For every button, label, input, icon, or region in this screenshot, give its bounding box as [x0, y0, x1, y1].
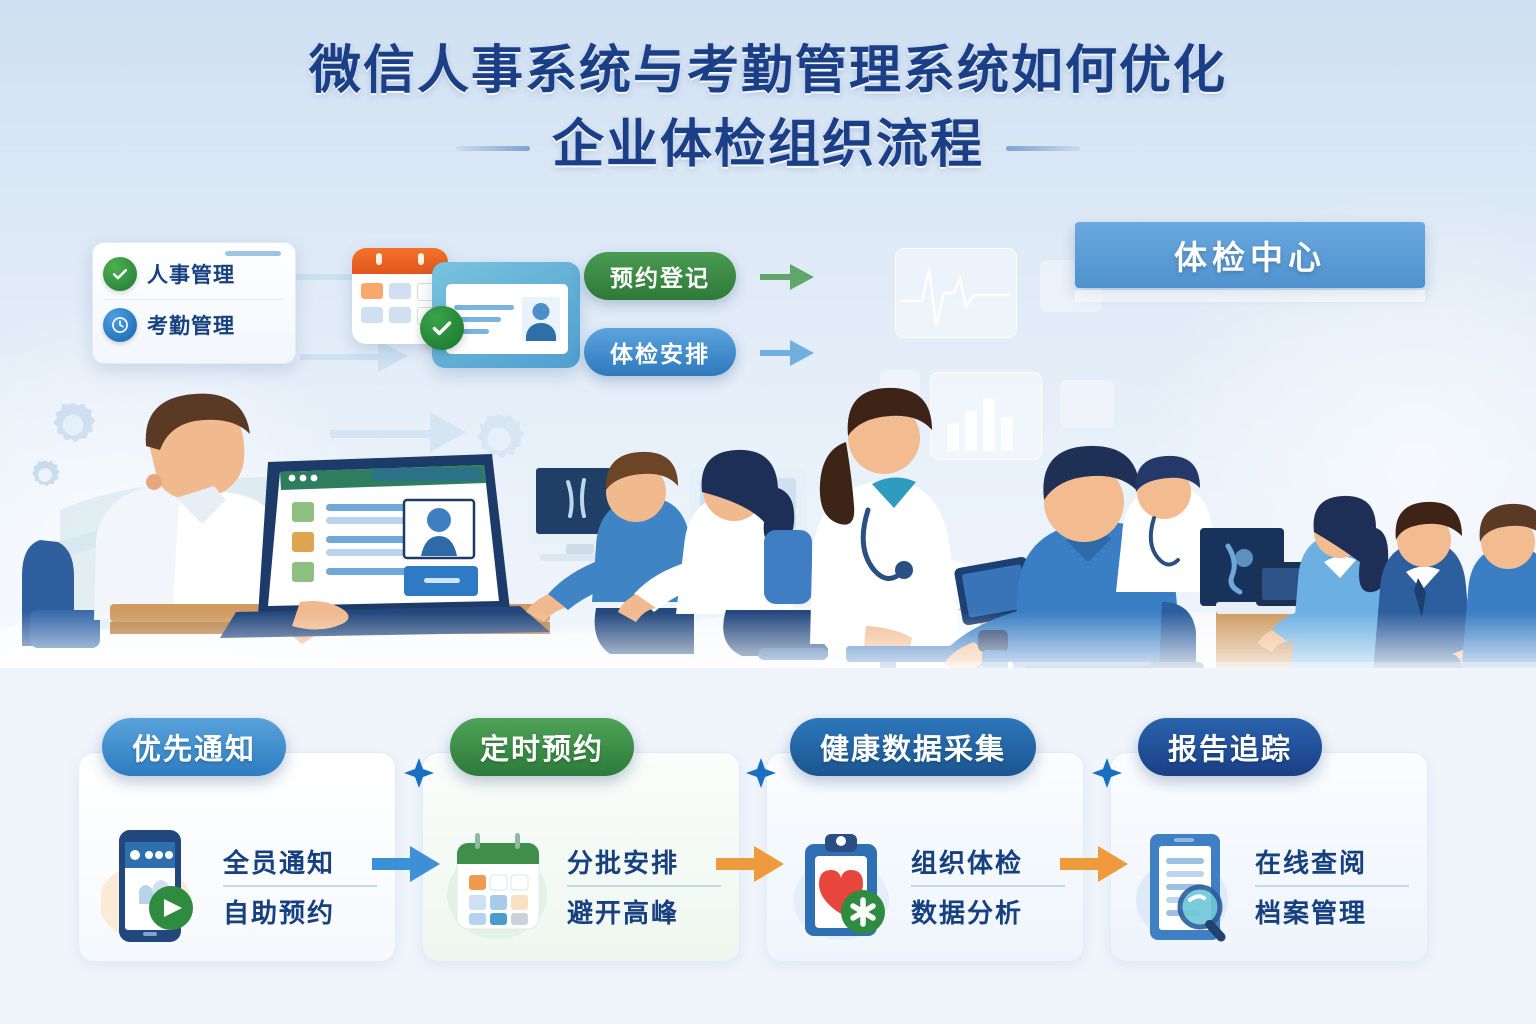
health-clipboard-icon — [785, 821, 897, 951]
title-rule-left — [456, 146, 530, 151]
flow-card-3-text: 组织体检 数据分析 — [911, 843, 1065, 930]
flow-card-1-line-1: 全员通知 — [223, 843, 377, 887]
title-line-2: 企业体检组织流程 — [552, 116, 984, 174]
flow-card-4-body: 在线查阅 档案管理 — [1111, 811, 1427, 961]
scene-fade-band — [0, 612, 1536, 674]
flow-arrow-3-to-4 — [1060, 846, 1128, 882]
flow-card-2-line-2: 避开高峰 — [567, 893, 721, 930]
flow-card-1-text: 全员通知 自助预约 — [223, 843, 377, 930]
flow-arrow-2-to-3 — [716, 846, 784, 882]
laptop — [220, 454, 550, 638]
flow-sparkle-2 — [746, 758, 776, 788]
flow-sparkle-3 — [1092, 758, 1122, 788]
report-magnifier-icon — [1129, 821, 1241, 951]
flow-pill-1[interactable]: 优先通知 — [102, 718, 286, 776]
flow-pill-2[interactable]: 定时预约 — [450, 718, 634, 776]
flow-pill-2-label: 定时预约 — [480, 726, 604, 768]
flow-card-2-line-1: 分批安排 — [567, 843, 721, 887]
scene-illustration — [0, 210, 1536, 680]
flow-pill-3-label: 健康数据采集 — [820, 726, 1006, 768]
flow-card-2-text: 分批安排 避开高峰 — [567, 843, 721, 930]
title-line-2-wrap: 企业体检组织流程 — [456, 108, 1080, 182]
title-line-1: 微信人事系统与考勤管理系统如何优化 — [0, 34, 1536, 108]
flow-pill-1-label: 优先通知 — [132, 726, 256, 768]
poster-title: 微信人事系统与考勤管理系统如何优化 企业体检组织流程 — [0, 34, 1536, 182]
process-flow: 全员通知 自助预约 优先通知 — [78, 718, 1458, 970]
flow-pill-4[interactable]: 报告追踪 — [1138, 718, 1322, 776]
flow-card-3-body: 组织体检 数据分析 — [767, 811, 1083, 961]
title-rule-right — [1006, 146, 1080, 151]
mobile-notification-icon — [97, 821, 209, 951]
flow-card-1-line-2: 自助预约 — [223, 893, 377, 930]
flow-card-1[interactable]: 全员通知 自助预约 — [78, 752, 396, 962]
flow-sparkle-1 — [404, 758, 434, 788]
flow-card-1-body: 全员通知 自助预约 — [79, 811, 395, 961]
flow-card-4-line-2: 档案管理 — [1255, 893, 1409, 930]
flow-pill-3[interactable]: 健康数据采集 — [790, 718, 1036, 776]
flow-card-3[interactable]: 组织体检 数据分析 — [766, 752, 1084, 962]
flow-card-2-body: 分批安排 避开高峰 — [423, 811, 739, 961]
flow-arrow-1-to-2 — [372, 846, 440, 882]
flow-card-2[interactable]: 分批安排 避开高峰 — [422, 752, 740, 962]
flow-card-3-line-2: 数据分析 — [911, 893, 1065, 930]
flow-card-4[interactable]: 在线查阅 档案管理 — [1110, 752, 1428, 962]
infographic-poster: 微信人事系统与考勤管理系统如何优化 企业体检组织流程 人事管理 — [0, 0, 1536, 1024]
flow-card-3-line-1: 组织体检 — [911, 843, 1065, 887]
flow-card-4-line-1: 在线查阅 — [1255, 843, 1409, 887]
calendar-schedule-icon — [441, 821, 553, 951]
hero-scene: 人事管理 考勤管理 — [0, 210, 1536, 680]
flow-pill-4-label: 报告追踪 — [1168, 726, 1292, 768]
flow-card-4-text: 在线查阅 档案管理 — [1255, 843, 1409, 930]
